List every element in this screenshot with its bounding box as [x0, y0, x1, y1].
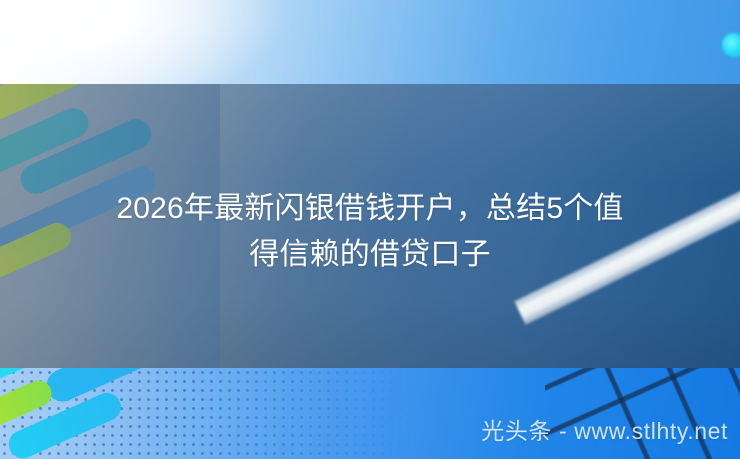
- watermark: 光头条 - www.stlhty.net: [481, 417, 728, 445]
- page-title: 2026年最新闪银借钱开户，总结5个值 得信赖的借贷口子: [0, 186, 740, 278]
- poster-canvas: 2026年最新闪银借钱开户，总结5个值 得信赖的借贷口子 光头条 - www.s…: [0, 0, 740, 459]
- diagonal-bars-bottom: [0, 368, 230, 459]
- fence-line-v1: [601, 368, 654, 459]
- cyan-circle-icon: [722, 33, 740, 57]
- fence-line-v3: [721, 368, 740, 459]
- bar-cyan-2: [41, 368, 200, 407]
- fence-line-v2: [661, 368, 718, 459]
- fence-grid: [545, 368, 740, 459]
- sky-band: [0, 0, 740, 84]
